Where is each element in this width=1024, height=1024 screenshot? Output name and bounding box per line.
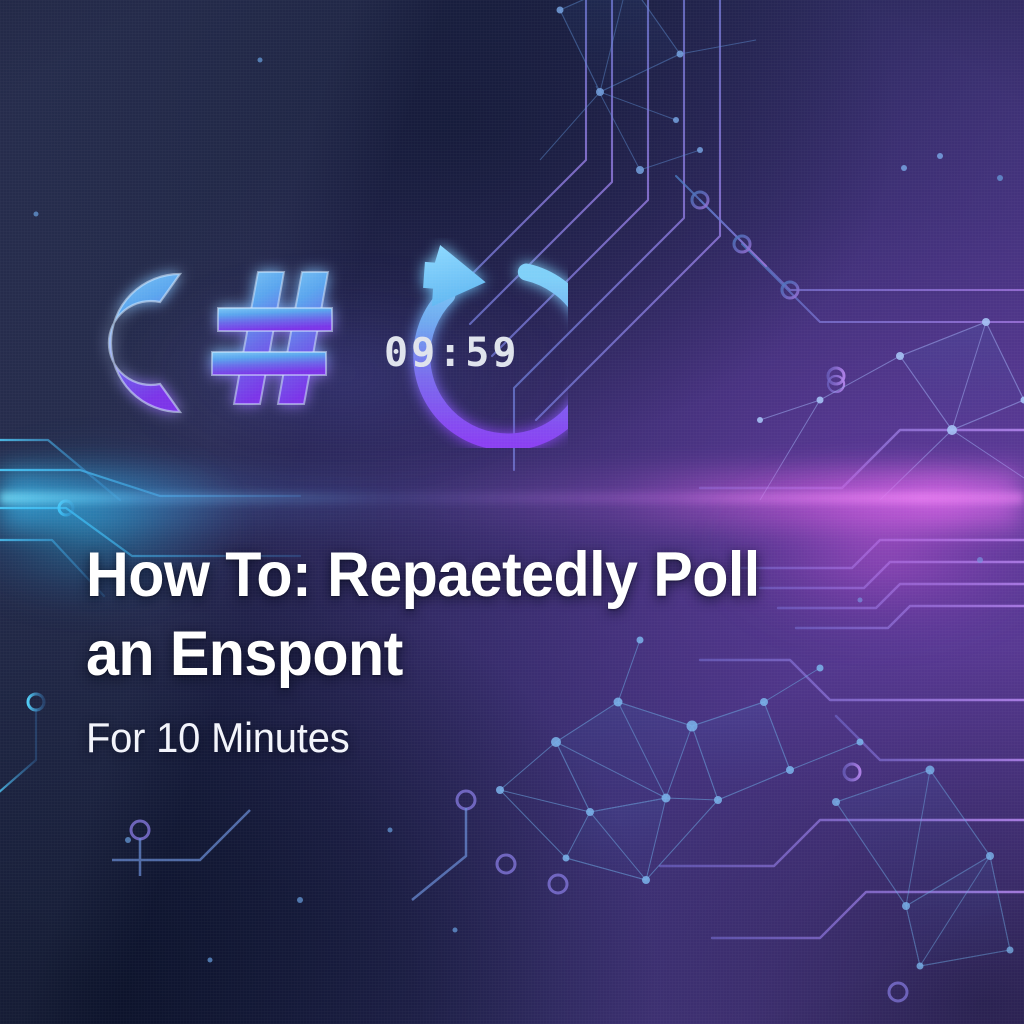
subtitle: For 10 Minutes (86, 714, 875, 762)
title-block: How To: Repaetedly Poll an Enspont For 1… (86, 536, 916, 762)
banner-canvas: 09:59 How To: Repaetedly Poll an Enspont… (0, 0, 1024, 1024)
csharp-letter-c (109, 274, 180, 412)
headline-line-2: an Enspont (86, 615, 866, 694)
csharp-hash-symbol (212, 272, 332, 404)
logo-row: 09:59 (88, 238, 568, 448)
logo-graphics: 09:59 (88, 238, 568, 448)
headline-line-1: How To: Repaetedly Poll (86, 536, 866, 615)
timer-digits: 09:59 (384, 330, 519, 376)
timer-display-value: 09:59 (384, 330, 519, 376)
